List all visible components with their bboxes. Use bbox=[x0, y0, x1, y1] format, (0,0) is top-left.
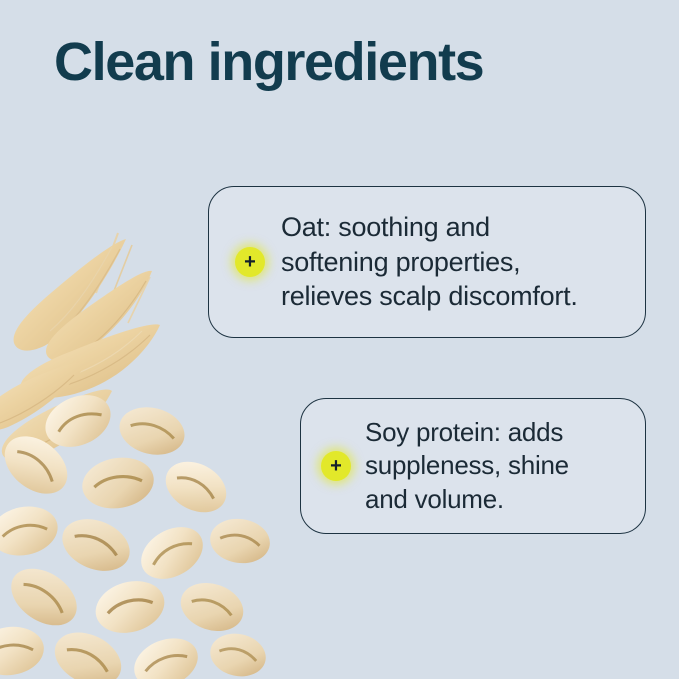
ingredient-card-oat[interactable]: + Oat: soothing and softening properties… bbox=[208, 186, 646, 338]
ingredient-card-soy[interactable]: + Soy protein: adds suppleness, shine an… bbox=[300, 398, 646, 534]
oat-husk-group bbox=[0, 233, 160, 461]
plus-icon[interactable]: + bbox=[321, 451, 351, 481]
clean-ingredients-poster: Clean ingredients bbox=[0, 0, 679, 679]
ingredient-card-oat-text: Oat: soothing and softening properties, … bbox=[281, 210, 578, 314]
plus-icon[interactable]: + bbox=[235, 247, 265, 277]
ingredient-card-soy-text: Soy protein: adds suppleness, shine and … bbox=[365, 416, 569, 516]
oat-flake-group bbox=[0, 385, 273, 679]
page-title: Clean ingredients bbox=[54, 34, 483, 91]
